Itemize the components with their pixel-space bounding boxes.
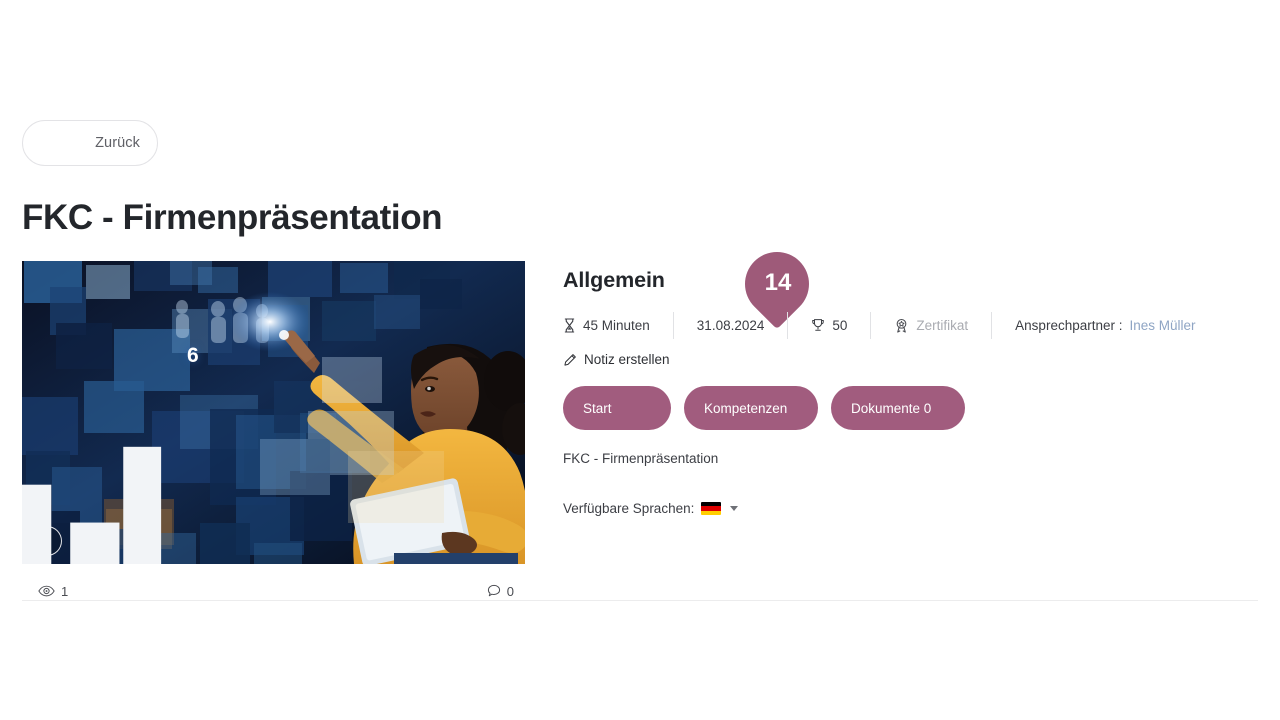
chevron-down-icon[interactable] [730,506,738,511]
meta-duration-label: 45 Minuten [583,318,650,333]
content-divider [22,600,1258,601]
meta-certificate-label: Zertifikat [916,318,968,333]
contact-name[interactable]: Ines Müller [1129,318,1195,333]
meta-points-label: 50 [832,318,847,333]
comments-stat[interactable]: 0 [487,584,514,599]
detail-panel: Allgemein 45 Minuten 31.08.2024 [563,268,1263,516]
bar-chart-icon [22,390,299,565]
back-button-label: Zurück [95,135,140,151]
meta-date: 31.08.2024 [674,311,788,339]
meta-date-label: 31.08.2024 [697,318,765,333]
course-thumbnail[interactable]: 6 [22,261,525,564]
flag-de-icon[interactable] [701,502,721,515]
bookmark-icon[interactable] [478,263,498,291]
documents-button[interactable]: Dokumente 0 [831,386,965,430]
course-detail-page: Zurück FKC - Firmenpräsentation [0,0,1280,720]
trophy-icon [811,318,825,332]
eye-icon [38,585,55,597]
competencies-button[interactable]: Kompetenzen [684,386,818,430]
hourglass-icon [563,318,576,333]
start-button[interactable]: Start [563,386,671,430]
back-button[interactable]: Zurück [22,120,158,166]
certificate-icon [894,318,909,333]
views-stat[interactable]: 1 [38,584,68,599]
action-buttons: Start Kompetenzen Dokumente 0 [563,386,1263,430]
create-note-button[interactable]: Notiz erstellen [563,352,670,367]
create-note-label: Notiz erstellen [584,352,670,367]
section-heading: Allgemein [563,268,1263,293]
page-title: FKC - Firmenpräsentation [22,198,442,238]
media-stats-bar: 1 0 [22,573,525,609]
contact-label: Ansprechpartner : [1015,318,1122,333]
available-languages-label: Verfügbare Sprachen: [563,501,694,516]
meta-row: 45 Minuten 31.08.2024 50 [563,311,1263,339]
comments-count: 0 [507,584,514,599]
meta-duration: 45 Minuten [563,311,673,339]
meta-certificate: Zertifikat [871,311,991,339]
meta-points: 50 [788,311,870,339]
media-card: 6 [22,261,525,609]
available-languages: Verfügbare Sprachen: [563,501,1263,516]
views-count: 1 [61,584,68,599]
course-description: FKC - Firmenpräsentation [563,451,1263,466]
statistics-badge[interactable] [32,526,62,556]
meta-contact: Ansprechpartner : Ines Müller [992,311,1218,339]
comment-icon [487,584,501,598]
pencil-icon [563,353,577,367]
